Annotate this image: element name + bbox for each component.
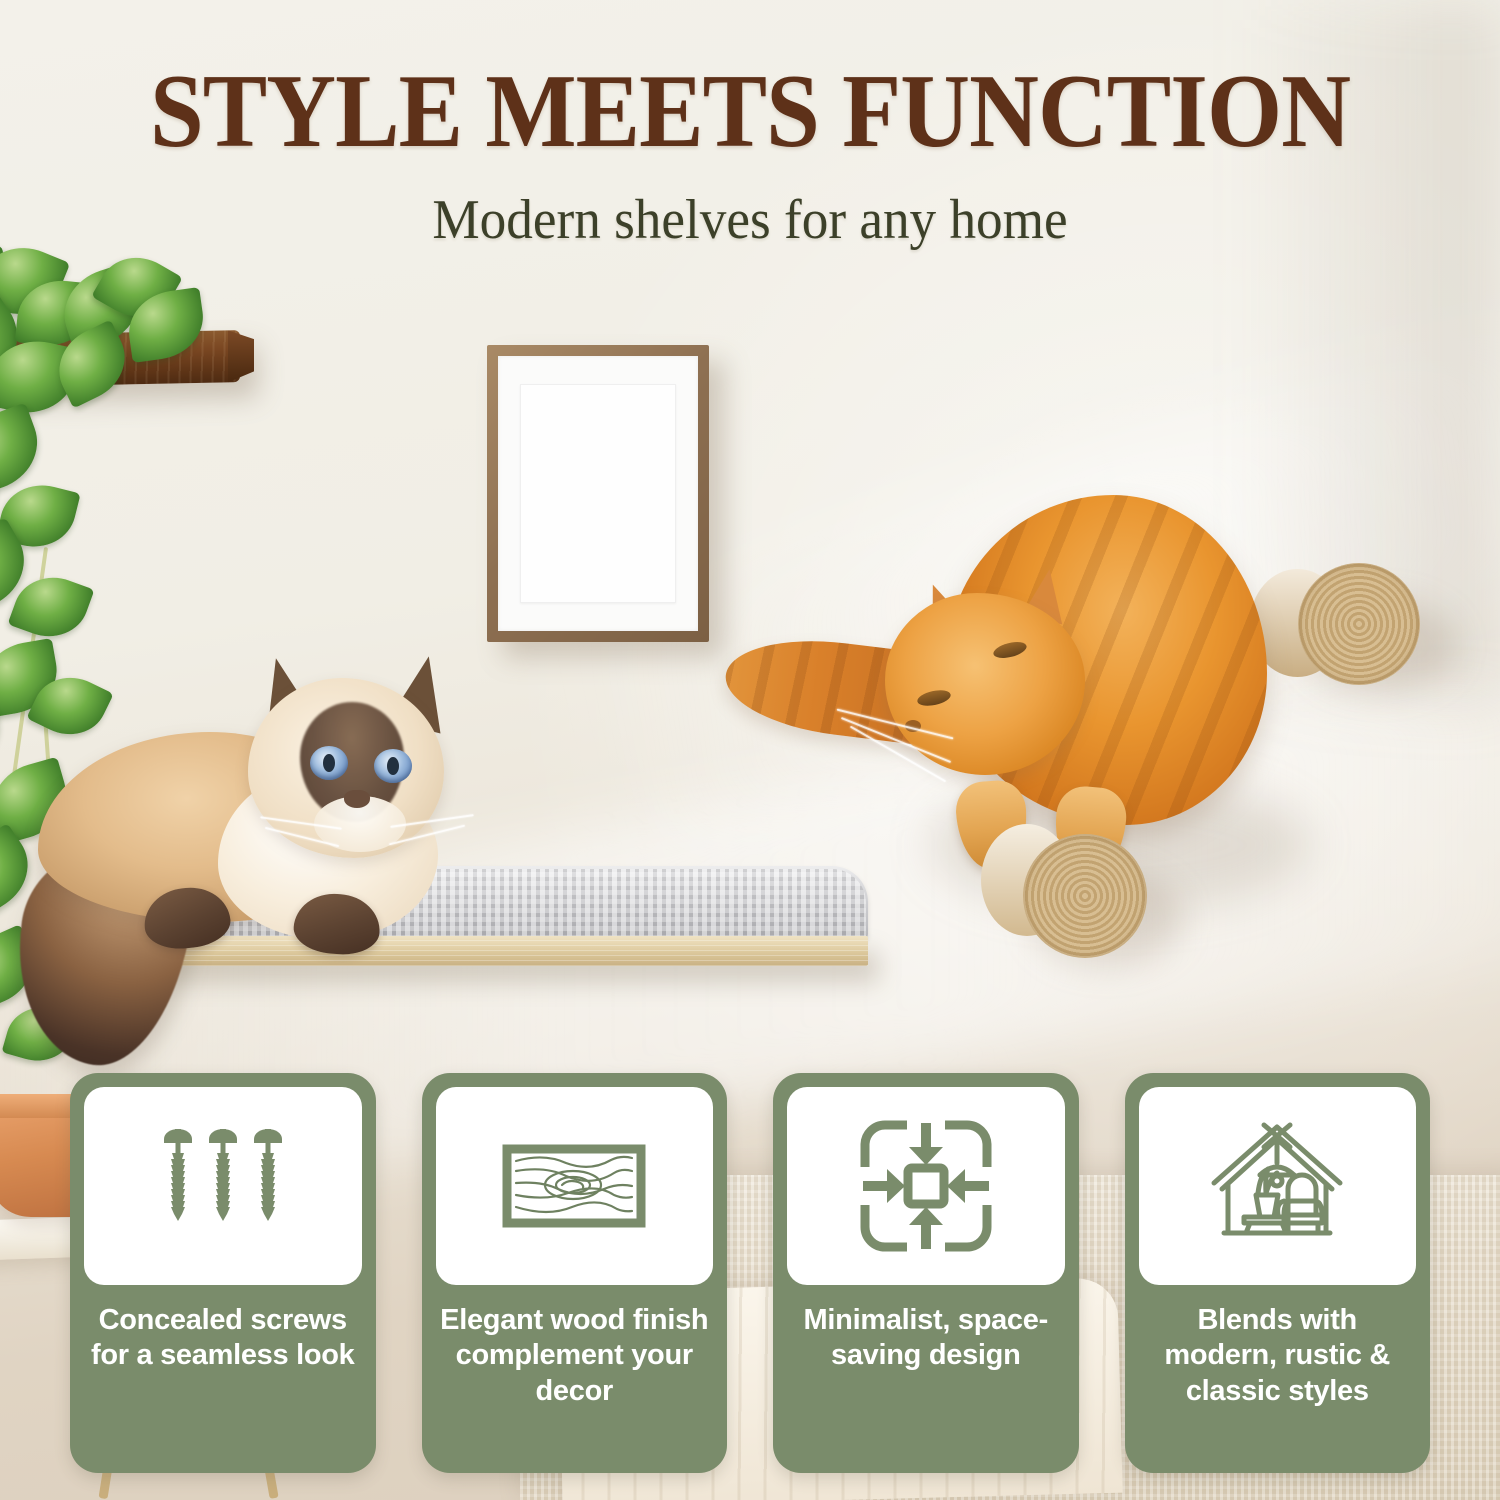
feature-card-space-saving[interactable]: Minimalist, space-saving design: [773, 1073, 1079, 1473]
feature-card-concealed-screws[interactable]: Concealed screws for a seamless look: [70, 1073, 376, 1473]
feature-card-wood-finish[interactable]: Elegant wood finish complement your deco…: [422, 1073, 728, 1473]
seal-point-birman-cat: [18, 650, 488, 1050]
space-saving-arrows-icon: [851, 1111, 1001, 1261]
feature-card-label: Minimalist, space-saving design: [787, 1303, 1065, 1378]
wood-plank-grain-icon: [499, 1111, 649, 1261]
feature-card-label: Elegant wood finish complement your deco…: [436, 1303, 714, 1413]
feature-cards: Concealed screws for a seamless look: [70, 1073, 1430, 1473]
cat-eye-left: [310, 746, 348, 780]
sisal-spiral-face: [1023, 834, 1147, 958]
frame-artwork: [520, 384, 676, 603]
house-interior-icon: [1202, 1111, 1352, 1261]
icon-container: [84, 1087, 362, 1285]
screws-icon: [148, 1111, 298, 1261]
feature-card-blends-styles[interactable]: Blends with modern, rustic & classic sty…: [1125, 1073, 1431, 1473]
frame-mat: [498, 356, 698, 631]
sisal-rope-step-center: [1023, 834, 1147, 958]
picture-frame: [487, 345, 709, 642]
page-subtitle: Modern shelves for any home: [38, 192, 1463, 248]
icon-container: [787, 1087, 1065, 1285]
page-title: STYLE MEETS FUNCTION: [60, 58, 1440, 163]
cat-nose: [344, 790, 370, 808]
feature-card-label: Blends with modern, rustic & classic sty…: [1139, 1303, 1417, 1413]
product-infographic: STYLE MEETS FUNCTION Modern shelves for …: [0, 0, 1500, 1500]
sisal-rope-step-right: [1298, 563, 1420, 685]
icon-container: [436, 1087, 714, 1285]
icon-container: [1139, 1087, 1417, 1285]
cat-eye-right: [374, 749, 412, 783]
feature-card-label: Concealed screws for a seamless look: [84, 1303, 362, 1378]
sisal-spiral-face: [1298, 563, 1420, 685]
